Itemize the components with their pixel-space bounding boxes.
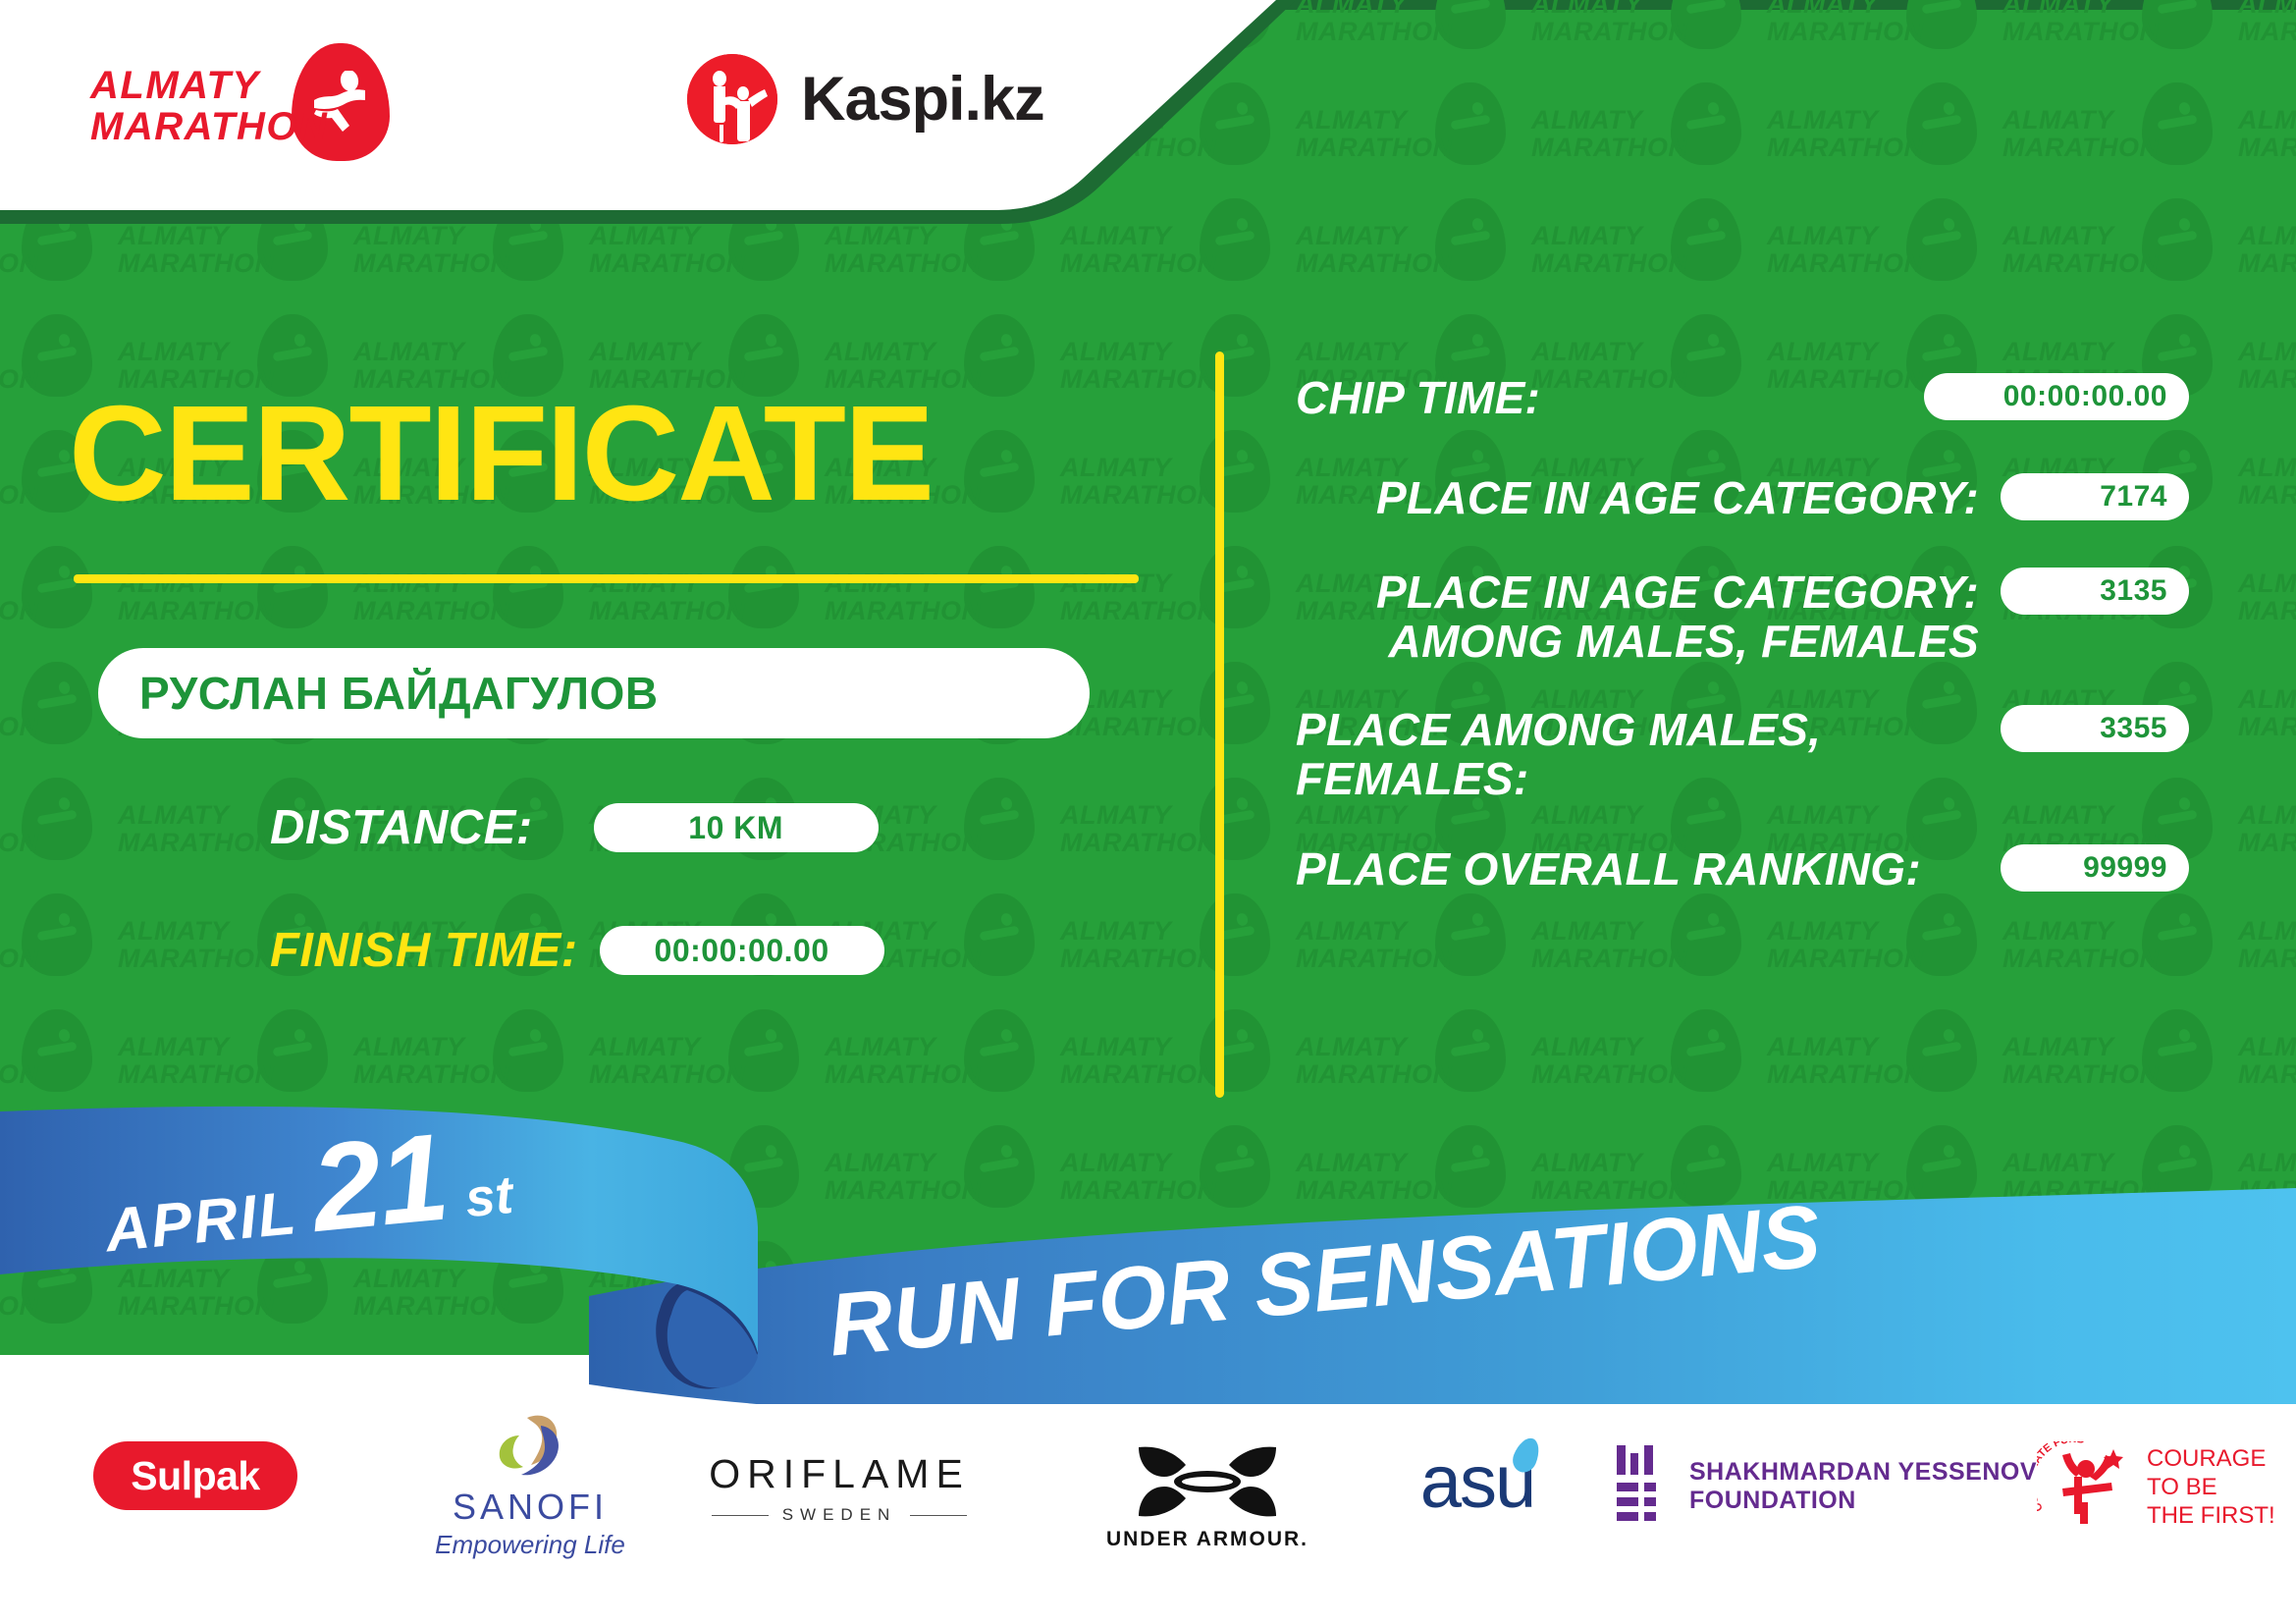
- sponsor-asu: asu: [1369, 1445, 1585, 1520]
- watermark-text: ALMATYMARATHON: [0, 454, 39, 509]
- watermark-runner-icon: [508, 1029, 552, 1068]
- watermark-drop-icon: [1435, 893, 1506, 976]
- watermark-text: ALMATYMARATHON: [118, 801, 275, 856]
- watermark-drop-icon: [964, 314, 1035, 397]
- stat-row: PLACE AMONG MALES, FEMALES: 3355: [1296, 705, 2189, 803]
- watermark-text: ALMATYMARATHON: [2238, 454, 2296, 509]
- watermark-text: ALMATYMARATHON: [1767, 106, 1924, 161]
- kaspi-wordmark: Kaspi.kz: [801, 64, 1044, 135]
- watermark-tile: ALMATYMARATHON: [0, 1003, 118, 1119]
- stat-label: PLACE OVERALL RANKING:: [1296, 844, 1979, 893]
- watermark-tile: ALMATYMARATHON: [825, 1003, 1060, 1119]
- watermark-runner-icon: [273, 334, 316, 373]
- watermark-runner-icon: [1922, 1029, 1965, 1068]
- under-armour-wordmark: UNDER ARMOUR.: [1106, 1528, 1308, 1551]
- watermark-tile: ALMATYMARATHON: [1531, 1351, 1767, 1355]
- watermark-tile: ALMATYMARATHON: [1060, 308, 1296, 424]
- watermark-drop-icon: [2142, 893, 2213, 976]
- yessenov-wordmark: SHAKHMARDAN YESSENOV FOUNDATION: [1689, 1458, 2037, 1515]
- stat-row: PLACE IN AGE CATEGORY: AMONG MALES, FEMA…: [1296, 568, 2189, 666]
- sanofi-mark-icon: [484, 1414, 577, 1481]
- watermark-tile: ALMATYMARATHON: [2238, 192, 2296, 308]
- watermark-text: ALMATYMARATHON: [2238, 1265, 2296, 1320]
- watermark-drop-icon: [257, 1241, 328, 1324]
- distance-value-pill[interactable]: 10 KM: [594, 803, 879, 852]
- watermark-runner-icon: [980, 1145, 1023, 1184]
- sponsor-sanofi: SANOFI Empowering Life: [417, 1414, 643, 1560]
- stat-value-pill[interactable]: 00:00:00.00: [1924, 373, 2189, 420]
- watermark-tile: ALMATYMARATHON: [825, 1119, 1060, 1235]
- watermark-tile: ALMATYMARATHON: [2002, 1119, 2238, 1235]
- stat-value: 99999: [2083, 851, 2167, 885]
- watermark-tile: ALMATYMARATHON: [118, 1351, 353, 1355]
- participant-name-field[interactable]: РУСЛАН БАЙДАГУЛОВ: [98, 648, 1090, 738]
- watermark-tile: ALMATYMARATHON: [1531, 0, 1767, 77]
- watermark-drop-icon: [964, 1125, 1035, 1208]
- divider-line-right: [910, 1515, 967, 1516]
- finish-time-value: 00:00:00.00: [655, 933, 829, 969]
- watermark-text: ALMATYMARATHON: [2002, 917, 2160, 972]
- watermark-runner-icon: [1922, 1145, 1965, 1184]
- watermark-text: ALMATYMARATHON: [0, 685, 39, 740]
- watermark-drop-icon: [22, 1125, 92, 1208]
- watermark-tile: ALMATYMARATHON: [118, 1003, 353, 1119]
- watermark-tile: ALMATYMARATHON: [0, 772, 118, 888]
- watermark-runner-icon: [1922, 913, 1965, 952]
- watermark-text: ALMATYMARATHON: [2002, 222, 2160, 277]
- sanofi-tagline: Empowering Life: [435, 1530, 625, 1560]
- finish-time-row: FINISH TIME: 00:00:00.00: [270, 923, 884, 978]
- watermark-text: ALMATYMARATHON: [1060, 454, 1217, 509]
- watermark-tile: ALMATYMARATHON: [1060, 540, 1296, 656]
- watermark-text: ALMATYMARATHON: [1296, 1033, 1453, 1088]
- watermark-runner-icon: [980, 334, 1023, 373]
- watermark-drop-icon: [22, 546, 92, 628]
- watermark-tile: ALMATYMARATHON: [2238, 1351, 2296, 1355]
- watermark-drop-icon: [22, 1009, 92, 1092]
- watermark-runner-icon: [508, 1145, 552, 1184]
- watermark-drop-icon: [257, 1009, 328, 1092]
- watermark-runner-icon: [980, 450, 1023, 489]
- stat-label: CHIP TIME:: [1296, 373, 1902, 422]
- watermark-drop-icon: [1906, 893, 1977, 976]
- watermark-text: ALMATYMARATHON: [2238, 917, 2296, 972]
- watermark-text: ALMATYMARATHON: [1296, 1149, 1453, 1204]
- watermark-tile: ALMATYMARATHON: [1767, 77, 2002, 192]
- watermark-runner-icon: [37, 913, 80, 952]
- stat-value-pill[interactable]: 7174: [2001, 473, 2189, 520]
- watermark-drop-icon: [964, 430, 1035, 513]
- courage-line2: TO BE: [2147, 1473, 2275, 1501]
- watermark-text: ALMATYMARATHON: [825, 1033, 982, 1088]
- watermark-tile: ALMATYMARATHON: [1060, 656, 1296, 772]
- watermark-tile: ALMATYMARATHON: [2002, 1235, 2238, 1351]
- watermark-text: ALMATYMARATHON: [825, 222, 982, 277]
- watermark-tile: ALMATYMARATHON: [2238, 0, 2296, 77]
- watermark-tile: ALMATYMARATHON: [1060, 1119, 1296, 1235]
- watermark-drop-icon: [1200, 778, 1270, 860]
- watermark-runner-icon: [1686, 102, 1730, 141]
- watermark-text: ALMATYMARATHON: [0, 917, 39, 972]
- watermark-text: ALMATYMARATHON: [2002, 1149, 2160, 1204]
- stat-label: PLACE IN AGE CATEGORY: AMONG MALES, FEMA…: [1296, 568, 1979, 666]
- courage-fund-wordmark: COURAGE TO BE THE FIRST!: [2147, 1444, 2275, 1530]
- watermark-tile: ALMATYMARATHON: [1296, 888, 1531, 1003]
- watermark-runner-icon: [1922, 218, 1965, 257]
- watermark-tile: ALMATYMARATHON: [2238, 540, 2296, 656]
- watermark-text: ALMATYMARATHON: [0, 1265, 39, 1320]
- watermark-tile: ALMATYMARATHON: [2002, 77, 2238, 192]
- watermark-text: ALMATYMARATHON: [1296, 917, 1453, 972]
- almaty-marathon-wordmark: ALMATY MARATHON: [90, 65, 328, 147]
- watermark-drop-icon: [493, 1009, 563, 1092]
- watermark-runner-icon: [1215, 1145, 1258, 1184]
- stat-label: PLACE IN AGE CATEGORY:: [1296, 473, 1979, 522]
- watermark-runner-icon: [744, 566, 787, 605]
- sponsor-courage-fund: CORPORATE FUND COURAGE TO BE THE FIRST!: [2037, 1441, 2275, 1532]
- watermark-drop-icon: [22, 662, 92, 744]
- distance-row: DISTANCE: 10 KM: [270, 800, 879, 855]
- watermark-drop-icon: [1200, 430, 1270, 513]
- watermark-runner-icon: [37, 1029, 80, 1068]
- watermark-text: ALMATYMARATHON: [1767, 1033, 1924, 1088]
- watermark-text: ALMATYMARATHON: [353, 1265, 510, 1320]
- watermark-runner-icon: [980, 566, 1023, 605]
- sanofi-wordmark: SANOFI: [435, 1487, 625, 1528]
- watermark-runner-icon: [273, 1261, 316, 1300]
- watermark-tile: ALMATYMARATHON: [2002, 888, 2238, 1003]
- courage-fund-mark-icon: CORPORATE FUND: [2037, 1441, 2133, 1532]
- watermark-text: ALMATYMARATHON: [353, 1033, 510, 1088]
- watermark-tile: ALMATYMARATHON: [1531, 888, 1767, 1003]
- watermark-drop-icon: [22, 1241, 92, 1324]
- watermark-text: ALMATYMARATHON: [1060, 1033, 1217, 1088]
- watermark-runner-icon: [1922, 334, 1965, 373]
- watermark-tile: ALMATYMARATHON: [2238, 656, 2296, 772]
- watermark-text: ALMATYMARATHON: [0, 222, 39, 277]
- watermark-tile: ALMATYMARATHON: [353, 1235, 589, 1351]
- stat-value: 3135: [2100, 574, 2167, 608]
- watermark-text: ALMATYMARATHON: [1060, 338, 1217, 393]
- watermark-tile: ALMATYMARATHON: [0, 1351, 118, 1355]
- watermark-tile: ALMATYMARATHON: [1060, 772, 1296, 888]
- watermark-text: ALMATYMARATHON: [2238, 222, 2296, 277]
- watermark-tile: ALMATYMARATHON: [2238, 77, 2296, 192]
- watermark-runner-icon: [1451, 218, 1494, 257]
- watermark-tile: ALMATYMARATHON: [1531, 192, 1767, 308]
- watermark-text: ALMATYMARATHON: [118, 917, 275, 972]
- participant-name-value: РУСЛАН БАЙДАГУЛОВ: [98, 667, 659, 720]
- watermark-tile: ALMATYMARATHON: [2002, 1003, 2238, 1119]
- watermark-drop-icon: [1435, 1009, 1506, 1092]
- watermark-drop-icon: [1200, 546, 1270, 628]
- oriflame-country: SWEDEN: [782, 1505, 897, 1525]
- stat-row: CHIP TIME: 00:00:00.00: [1296, 373, 2189, 422]
- watermark-text: ALMATYMARATHON: [589, 1033, 746, 1088]
- watermark-drop-icon: [22, 893, 92, 976]
- watermark-text: ALMATYMARATHON: [1531, 106, 1688, 161]
- watermark-drop-icon: [2142, 82, 2213, 165]
- watermark-tile: ALMATYMARATHON: [1767, 192, 2002, 308]
- watermark-runner-icon: [1686, 334, 1730, 373]
- watermark-tile: ALMATYMARATHON: [2002, 0, 2238, 77]
- watermark-runner-icon: [744, 1029, 787, 1068]
- watermark-text: ALMATYMARATHON: [2002, 1033, 2160, 1088]
- watermark-runner-icon: [1451, 913, 1494, 952]
- watermark-text: ALMATYMARATHON: [2238, 685, 2296, 740]
- watermark-runner-icon: [37, 1145, 80, 1184]
- watermark-tile: ALMATYMARATHON: [118, 540, 353, 656]
- watermark-tile: ALMATYMARATHON: [2238, 888, 2296, 1003]
- watermark-runner-icon: [1451, 1145, 1494, 1184]
- stat-value-pill[interactable]: 99999: [2001, 844, 2189, 892]
- watermark-tile: ALMATYMARATHON: [589, 1351, 825, 1355]
- watermark-drop-icon: [1671, 198, 1741, 281]
- watermark-runner-icon: [508, 566, 552, 605]
- courage-line1: COURAGE: [2147, 1444, 2275, 1473]
- watermark-tile: ALMATYMARATHON: [1531, 77, 1767, 192]
- stat-value: 3355: [2100, 712, 2167, 745]
- sponsor-oriflame: ORIFLAME SWEDEN: [697, 1451, 982, 1525]
- watermark-tile: ALMATYMARATHON: [1060, 1003, 1296, 1119]
- vertical-divider: [1215, 352, 1224, 1098]
- watermark-text: ALMATYMARATHON: [589, 1265, 746, 1320]
- watermark-tile: ALMATYMARATHON: [589, 540, 825, 656]
- event-day-suffix: st: [462, 1164, 515, 1229]
- kaspi-logo: Kaspi.kz: [687, 54, 1044, 144]
- watermark-tile: ALMATYMARATHON: [1060, 888, 1296, 1003]
- watermark-text: ALMATYMARATHON: [0, 338, 39, 393]
- watermark-drop-icon: [2142, 1009, 2213, 1092]
- almaty-word: ALMATY: [90, 65, 328, 106]
- watermark-runner-icon: [1686, 913, 1730, 952]
- watermark-text: ALMATYMARATHON: [1060, 222, 1217, 277]
- watermark-drop-icon: [964, 893, 1035, 976]
- certificate-canvas: ALMATYMARATHONALMATYMARATHONALMATYMARATH…: [0, 0, 2296, 1624]
- stats-column: CHIP TIME: 00:00:00.00 PLACE IN AGE CATE…: [1296, 373, 2189, 893]
- sponsor-shakhmardan-yessenov-foundation: SHAKHMARDAN YESSENOV FOUNDATION: [1615, 1445, 2037, 1528]
- watermark-tile: ALMATYMARATHON: [589, 1003, 825, 1119]
- watermark-text: ALMATYMARATHON: [118, 1033, 275, 1088]
- watermark-runner-icon: [273, 1029, 316, 1068]
- watermark-tile: ALMATYMARATHON: [2238, 308, 2296, 424]
- watermark-tile: ALMATYMARATHON: [1296, 1003, 1531, 1119]
- watermark-text: ALMATYMARATHON: [0, 1033, 39, 1088]
- watermark-drop-icon: [1671, 1009, 1741, 1092]
- yessenov-mark-icon: [1615, 1445, 1668, 1528]
- watermark-text: ALMATYMARATHON: [1060, 1149, 1217, 1204]
- watermark-tile: ALMATYMARATHON: [1767, 888, 2002, 1003]
- distance-label: DISTANCE:: [270, 800, 533, 855]
- watermark-drop-icon: [1906, 82, 1977, 165]
- watermark-runner-icon: [37, 566, 80, 605]
- watermark-tile: ALMATYMARATHON: [1767, 0, 2002, 77]
- watermark-text: ALMATYMARATHON: [2002, 1265, 2160, 1320]
- watermark-drop-icon: [728, 1125, 799, 1208]
- watermark-runner-icon: [37, 797, 80, 837]
- watermark-drop-icon: [1671, 893, 1741, 976]
- watermark-runner-icon: [1451, 102, 1494, 141]
- watermark-tile: ALMATYMARATHON: [1767, 1351, 2002, 1355]
- yessenov-line1: SHAKHMARDAN YESSENOV: [1689, 1458, 2037, 1487]
- watermark-text: ALMATYMARATHON: [2238, 801, 2296, 856]
- stat-value: 7174: [2100, 480, 2167, 514]
- watermark-text: ALMATYMARATHON: [1060, 801, 1217, 856]
- watermark-tile: ALMATYMARATHON: [2238, 1235, 2296, 1351]
- distance-value: 10 KM: [688, 810, 783, 846]
- watermark-runner-icon: [1922, 102, 1965, 141]
- stat-value-pill[interactable]: 3135: [2001, 568, 2189, 615]
- sponsor-under-armour: UNDER ARMOUR.: [1085, 1443, 1330, 1551]
- watermark-text: ALMATYMARATHON: [2238, 106, 2296, 161]
- watermark-runner-icon: [2158, 1261, 2201, 1300]
- watermark-runner-icon: [508, 1261, 552, 1300]
- kaspi-people-circle-icon: [687, 54, 777, 144]
- watermark-runner-icon: [37, 1261, 80, 1300]
- watermark-text: ALMATYMARATHON: [2002, 106, 2160, 161]
- watermark-text: ALMATYMARATHON: [1531, 1149, 1688, 1204]
- watermark-runner-icon: [744, 1145, 787, 1184]
- watermark-tile: ALMATYMARATHON: [0, 888, 118, 1003]
- sponsors-bar: Sulpak SANOFI Empowering Life ORIFLAME: [0, 1404, 2296, 1624]
- watermark-text: ALMATYMARATHON: [2238, 338, 2296, 393]
- watermark-runner-icon: [1686, 218, 1730, 257]
- under-armour-mark-icon: [1129, 1443, 1286, 1520]
- watermark-text: ALMATYMARATHON: [1296, 222, 1453, 277]
- watermark-text: ALMATYMARATHON: [2238, 569, 2296, 624]
- watermark-drop-icon: [964, 546, 1035, 628]
- watermark-text: ALMATYMARATHON: [1531, 222, 1688, 277]
- watermark-runner-icon: [1451, 334, 1494, 373]
- watermark-tile: ALMATYMARATHON: [2238, 424, 2296, 540]
- watermark-tile: ALMATYMARATHON: [1296, 1351, 1531, 1355]
- page-title: CERTIFICATE: [69, 386, 933, 521]
- almaty-marathon-logo: ALMATY MARATHON: [90, 43, 404, 153]
- watermark-drop-icon: [1906, 198, 1977, 281]
- title-underline: [74, 574, 1139, 583]
- watermark-runner-icon: [2158, 1029, 2201, 1068]
- watermark-drop-icon: [1906, 1009, 1977, 1092]
- watermark-text: ALMATYMARATHON: [1531, 1033, 1688, 1088]
- watermark-runner-icon: [2158, 102, 2201, 141]
- watermark-runner-icon: [2158, 334, 2201, 373]
- watermark-drop-icon: [1435, 198, 1506, 281]
- finish-time-value-pill[interactable]: 00:00:00.00: [600, 926, 884, 975]
- watermark-runner-icon: [37, 681, 80, 721]
- watermark-runner-icon: [980, 913, 1023, 952]
- watermark-drop-icon: [1435, 1125, 1506, 1208]
- watermark-drop-icon: [728, 546, 799, 628]
- watermark-tile: ALMATYMARATHON: [1767, 1003, 2002, 1119]
- watermark-runner-icon: [1922, 1261, 1965, 1300]
- watermark-drop-icon: [2142, 1241, 2213, 1324]
- watermark-tile: ALMATYMARATHON: [2002, 1351, 2238, 1355]
- watermark-drop-icon: [257, 546, 328, 628]
- watermark-runner-icon: [980, 797, 1023, 837]
- watermark-drop-icon: [1906, 1125, 1977, 1208]
- watermark-tile: ALMATYMARATHON: [2002, 192, 2238, 308]
- watermark-drop-icon: [1906, 1241, 1977, 1324]
- watermark-text: ALMATYMARATHON: [1060, 917, 1217, 972]
- watermark-tile: ALMATYMARATHON: [1531, 1003, 1767, 1119]
- watermark-text: ALMATYMARATHON: [0, 801, 39, 856]
- yessenov-line2: FOUNDATION: [1689, 1487, 2037, 1515]
- watermark-drop-icon: [493, 546, 563, 628]
- watermark-text: ALMATYMARATHON: [0, 1149, 39, 1204]
- watermark-runner-icon: [508, 334, 552, 373]
- watermark-text: ALMATYMARATHON: [589, 222, 746, 277]
- watermark-runner-icon: [1686, 1029, 1730, 1068]
- watermark-tile: ALMATYMARATHON: [2238, 1003, 2296, 1119]
- watermark-text: ALMATYMARATHON: [2238, 1149, 2296, 1204]
- watermark-tile: ALMATYMARATHON: [589, 1119, 825, 1235]
- watermark-tile: ALMATYMARATHON: [353, 1003, 589, 1119]
- watermark-text: ALMATYMARATHON: [0, 569, 39, 624]
- stat-row: PLACE OVERALL RANKING: 99999: [1296, 844, 2189, 893]
- watermark-drop-icon: [22, 778, 92, 860]
- watermark-runner-icon: [37, 334, 80, 373]
- watermark-drop-icon: [1200, 893, 1270, 976]
- watermark-text: ALMATYMARATHON: [1531, 917, 1688, 972]
- watermark-runner-icon: [2158, 913, 2201, 952]
- watermark-drop-icon: [1671, 82, 1741, 165]
- watermark-drop-icon: [2142, 1125, 2213, 1208]
- oriflame-wordmark: ORIFLAME: [709, 1451, 970, 1497]
- watermark-runner-icon: [744, 334, 787, 373]
- watermark-tile: ALMATYMARATHON: [825, 540, 1060, 656]
- watermark-tile: ALMATYMARATHON: [2238, 772, 2296, 888]
- event-day: 21: [307, 1120, 451, 1244]
- watermark-drop-icon: [728, 1009, 799, 1092]
- watermark-runner-icon: [2158, 1145, 2201, 1184]
- watermark-text: ALMATYMARATHON: [118, 222, 275, 277]
- finish-time-label: FINISH TIME:: [270, 923, 578, 978]
- watermark-text: ALMATYMARATHON: [589, 1149, 746, 1204]
- watermark-tile: ALMATYMARATHON: [1060, 424, 1296, 540]
- watermark-drop-icon: [964, 778, 1035, 860]
- stat-value-pill[interactable]: 3355: [2001, 705, 2189, 752]
- sulpak-logo: Sulpak: [93, 1441, 297, 1510]
- watermark-drop-icon: [2142, 198, 2213, 281]
- watermark-runner-icon: [1451, 1029, 1494, 1068]
- sponsor-sulpak: Sulpak: [93, 1441, 297, 1510]
- watermark-tile: ALMATYMARATHON: [353, 1351, 589, 1355]
- stat-row: PLACE IN AGE CATEGORY: 7174: [1296, 473, 2189, 522]
- watermark-runner-icon: [2158, 218, 2201, 257]
- asu-wordmark: asu: [1420, 1445, 1535, 1520]
- watermark-text: ALMATYMARATHON: [2238, 1033, 2296, 1088]
- watermark-runner-icon: [273, 566, 316, 605]
- watermark-runner-icon: [744, 1261, 787, 1300]
- stat-value: 00:00:00.00: [2003, 380, 2167, 413]
- watermark-drop-icon: [1200, 1125, 1270, 1208]
- watermark-text: ALMATYMARATHON: [825, 1149, 982, 1204]
- stat-label: PLACE AMONG MALES, FEMALES:: [1296, 705, 1979, 803]
- watermark-runner-icon: [1686, 1145, 1730, 1184]
- divider-line-left: [712, 1515, 769, 1516]
- watermark-tile: ALMATYMARATHON: [0, 1235, 118, 1351]
- watermark-tile: ALMATYMARATHON: [2238, 1119, 2296, 1235]
- watermark-drop-icon: [964, 1009, 1035, 1092]
- sulpak-wordmark: Sulpak: [131, 1453, 259, 1499]
- watermark-drop-icon: [493, 1241, 563, 1324]
- courage-line3: THE FIRST!: [2147, 1501, 2275, 1530]
- watermark-runner-icon: [980, 1029, 1023, 1068]
- watermark-tile: ALMATYMARATHON: [589, 1235, 825, 1351]
- watermark-text: ALMATYMARATHON: [118, 1265, 275, 1320]
- oriflame-sub: SWEDEN: [709, 1505, 970, 1525]
- watermark-drop-icon: [1200, 662, 1270, 744]
